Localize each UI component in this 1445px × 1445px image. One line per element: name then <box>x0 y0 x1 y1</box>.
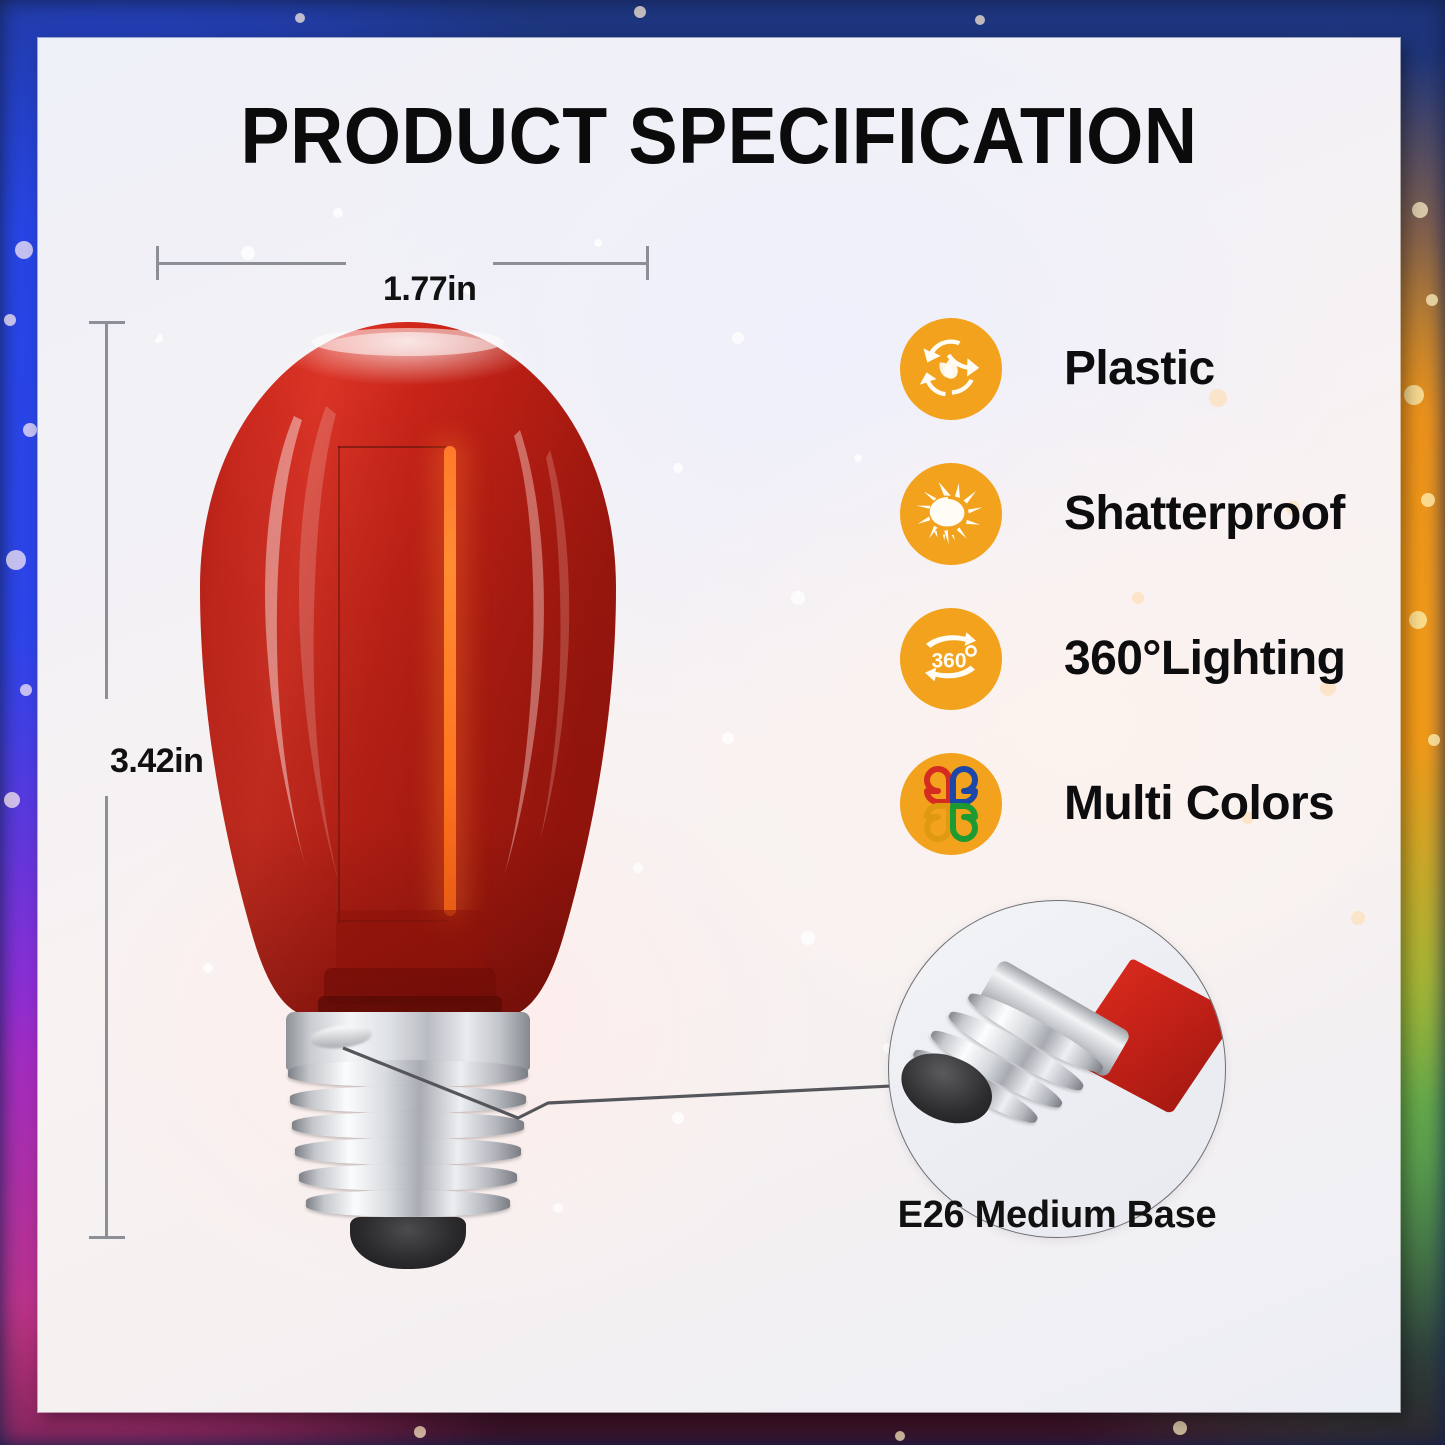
base-thread <box>288 1060 528 1087</box>
petal-top-left <box>927 769 949 802</box>
dim-height-rule-bottom <box>105 796 108 1238</box>
feature-label: Multi Colors <box>1064 776 1334 831</box>
bulb-stem <box>318 910 502 1026</box>
magnifier-content <box>888 900 1226 1238</box>
magnifier-caption: E26 Medium Base <box>874 1194 1240 1237</box>
recycle-leaf-icon <box>900 318 1002 420</box>
feature-item-multi-colors: Multi Colors <box>900 731 1370 876</box>
e26-base-magnifier <box>888 900 1226 1238</box>
base-thread <box>295 1138 521 1165</box>
bulb-illustration <box>198 320 618 1320</box>
impact-burst-icon <box>900 463 1002 565</box>
page-title: PRODUCT SPECIFICATION <box>92 90 1345 182</box>
feature-label: Plastic <box>1064 341 1215 396</box>
base-insulator-tip <box>350 1217 466 1269</box>
base-thread <box>306 1190 510 1217</box>
petal-bottom-right <box>953 806 975 839</box>
base-thread <box>290 1086 526 1113</box>
petal-top-right <box>953 769 975 802</box>
dim-height-cap-bottom <box>89 1236 125 1239</box>
base-notch <box>309 1023 373 1051</box>
360-icon-text: 360 <box>931 649 966 672</box>
filament-top-wire <box>338 446 446 448</box>
feature-list: Plastic Shatterproof <box>900 296 1370 876</box>
feature-item-360-lighting: 360 360°Lighting <box>900 586 1370 731</box>
base-thread <box>299 1164 517 1191</box>
spec-card: PRODUCT SPECIFICATION 1.77in 3.42in <box>38 38 1400 1412</box>
360-rotation-icon: 360 <box>900 608 1002 710</box>
led-filament <box>444 446 456 916</box>
e26-screw-base <box>286 1012 530 1252</box>
filament-support-post <box>338 446 340 924</box>
petal-bottom-left <box>927 806 949 839</box>
feature-item-plastic: Plastic <box>900 296 1370 441</box>
dim-width-rule-left <box>156 262 346 265</box>
four-petal-color-icon <box>900 753 1002 855</box>
product-specification-image: PRODUCT SPECIFICATION 1.77in 3.42in <box>0 0 1445 1445</box>
feature-label: 360°Lighting <box>1064 631 1345 686</box>
feature-label: Shatterproof <box>1064 486 1345 541</box>
dim-width-cap-right <box>646 246 649 280</box>
dim-height-label: 3.42in <box>110 742 203 781</box>
base-thread <box>292 1112 524 1139</box>
feature-item-shatterproof: Shatterproof <box>900 441 1370 586</box>
dim-width-rule-right <box>493 262 648 265</box>
dim-width-label: 1.77in <box>383 270 476 309</box>
dim-height-rule-top <box>105 321 108 699</box>
